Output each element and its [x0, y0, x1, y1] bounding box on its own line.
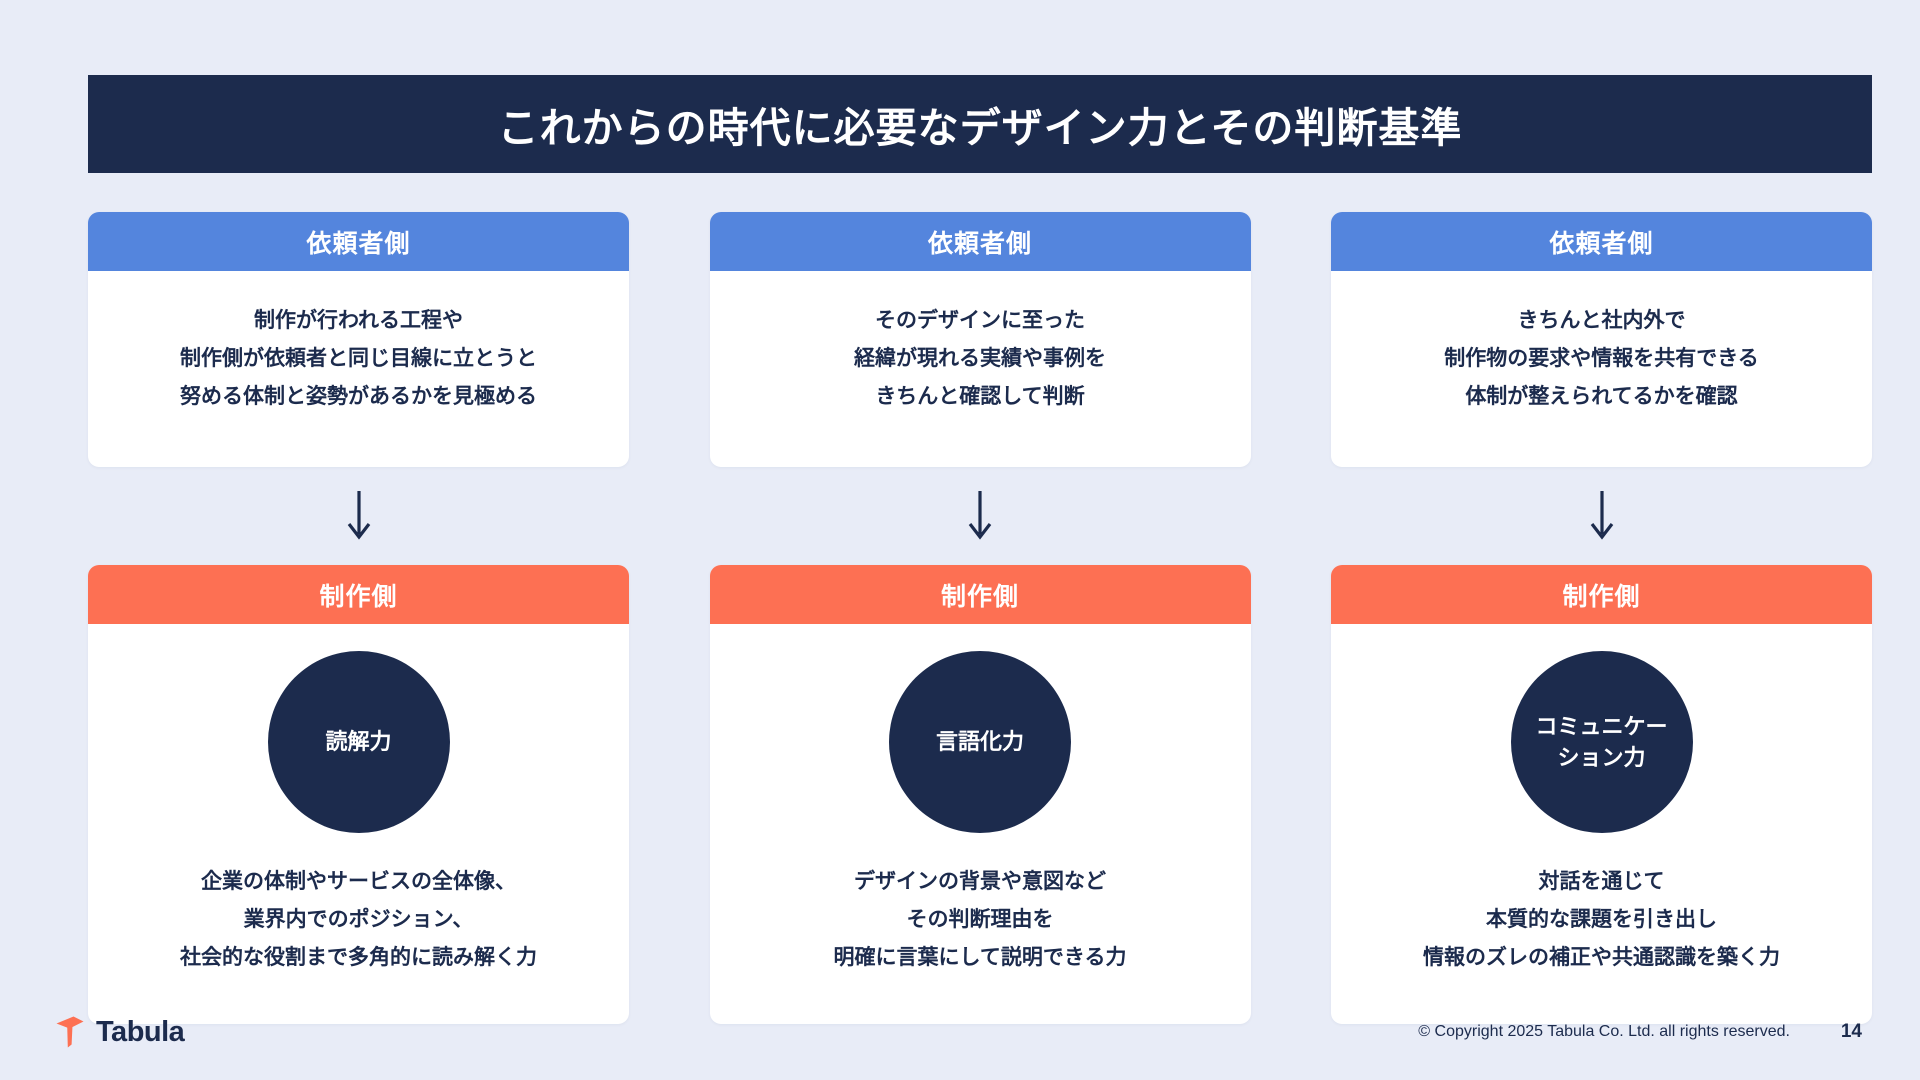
client-card-3: 依頼者側 きちんと社内外で 制作物の要求や情報を共有できる 体制が整えられてるか… — [1331, 212, 1872, 467]
creator-card-body-3: コミュニケー ション力 対話を通じて 本質的な課題を引き出し 情報のズレの補正や… — [1331, 624, 1872, 1024]
client-card-body-2: そのデザインに至った 経緯が現れる実績や事例を きちんと確認して判断 — [710, 271, 1251, 445]
client-card-body-3: きちんと社内外で 制作物の要求や情報を共有できる 体制が整えられてるかを確認 — [1331, 271, 1872, 445]
client-card-line: 制作物の要求や情報を共有できる — [1444, 340, 1759, 378]
column-2: 依頼者側 そのデザインに至った 経緯が現れる実績や事例を きちんと確認して判断 … — [710, 212, 1251, 1024]
creator-card-line: 企業の体制やサービスの全体像、 — [201, 863, 516, 901]
down-arrow-icon — [346, 490, 372, 542]
slide-title-bar: これからの時代に必要なデザイン力とその判断基準 — [88, 75, 1872, 173]
page-title: これからの時代に必要なデザイン力とその判断基準 — [498, 94, 1463, 154]
skill-circle-label-3-line2: ション力 — [1557, 745, 1645, 770]
creator-card-header-1: 制作側 — [88, 565, 629, 624]
creator-card-text-2: デザインの背景や意図など その判断理由を 明確に言葉にして説明できる力 — [834, 863, 1127, 978]
client-card-body-1: 制作が行われる工程や 制作側が依頼者と同じ目線に立とうと 努める体制と姿勢がある… — [88, 271, 629, 445]
down-arrow-1 — [88, 467, 629, 565]
client-card-line: きちんと社内外で — [1518, 302, 1686, 340]
creator-card-body-2: 言語化力 デザインの背景や意図など その判断理由を 明確に言葉にして説明できる力 — [710, 624, 1251, 1024]
skill-circle-label-1: 読解力 — [313, 726, 403, 757]
columns-container: 依頼者側 制作が行われる工程や 制作側が依頼者と同じ目線に立とうと 努める体制と… — [88, 212, 1872, 1024]
column-3: 依頼者側 きちんと社内外で 制作物の要求や情報を共有できる 体制が整えられてるか… — [1331, 212, 1872, 1024]
creator-card-line: 対話を通じて — [1539, 863, 1665, 901]
skill-circle-label-3-line1: コミュニケー — [1535, 714, 1667, 739]
creator-card-body-1: 読解力 企業の体制やサービスの全体像、 業界内でのポジション、 社会的な役割まで… — [88, 624, 629, 1024]
copyright-text: © Copyright 2025 Tabula Co. Ltd. all rig… — [1418, 1023, 1790, 1041]
client-card-line: そのデザインに至った — [875, 302, 1085, 340]
skill-circle-3: コミュニケー ション力 — [1511, 651, 1693, 833]
creator-card-line: 社会的な役割まで多角的に読み解く力 — [180, 939, 537, 977]
creator-card-line: 情報のズレの補正や共通認識を築く力 — [1423, 939, 1780, 977]
creator-card-line: 本質的な課題を引き出し — [1486, 901, 1717, 939]
creator-card-3: 制作側 コミュニケー ション力 対話を通じて 本質的な課題を引き出し 情報のズレ… — [1331, 565, 1872, 1024]
down-arrow-icon — [967, 490, 993, 542]
creator-card-line: デザインの背景や意図など — [854, 863, 1106, 901]
tabula-logo-icon — [55, 1015, 85, 1049]
creator-card-line: 業界内でのポジション、 — [244, 901, 474, 939]
client-card-line: 制作側が依頼者と同じ目線に立とうと — [180, 340, 537, 378]
skill-circle-label-3: コミュニケー ション力 — [1523, 711, 1679, 773]
creator-card-line: 明確に言葉にして説明できる力 — [834, 939, 1127, 977]
creator-card-2: 制作側 言語化力 デザインの背景や意図など その判断理由を 明確に言葉にして説明… — [710, 565, 1251, 1024]
client-card-header-2: 依頼者側 — [710, 212, 1251, 271]
client-card-line: 制作が行われる工程や — [254, 302, 463, 340]
down-arrow-3 — [1331, 467, 1872, 565]
tabula-logo-text: Tabula — [96, 1016, 184, 1049]
client-card-line: 経緯が現れる実績や事例を — [854, 340, 1106, 378]
creator-card-text-1: 企業の体制やサービスの全体像、 業界内でのポジション、 社会的な役割まで多角的に… — [180, 863, 537, 978]
client-card-header-1: 依頼者側 — [88, 212, 629, 271]
slide: これからの時代に必要なデザイン力とその判断基準 依頼者側 制作が行われる工程や … — [0, 0, 1920, 1080]
tabula-logo: Tabula — [55, 1015, 184, 1049]
skill-circle-label-2: 言語化力 — [924, 726, 1036, 757]
creator-card-line: その判断理由を — [906, 901, 1053, 939]
client-card-1: 依頼者側 制作が行われる工程や 制作側が依頼者と同じ目線に立とうと 努める体制と… — [88, 212, 629, 467]
down-arrow-icon — [1589, 490, 1615, 542]
creator-card-header-2: 制作側 — [710, 565, 1251, 624]
down-arrow-2 — [710, 467, 1251, 565]
client-card-2: 依頼者側 そのデザインに至った 経緯が現れる実績や事例を きちんと確認して判断 — [710, 212, 1251, 467]
skill-circle-2: 言語化力 — [889, 651, 1071, 833]
client-card-header-3: 依頼者側 — [1331, 212, 1872, 271]
client-card-line: 努める体制と姿勢があるかを見極める — [180, 378, 537, 416]
skill-circle-1: 読解力 — [268, 651, 450, 833]
client-card-line: きちんと確認して判断 — [875, 378, 1084, 416]
client-card-line: 体制が整えられてるかを確認 — [1465, 378, 1737, 416]
creator-card-header-3: 制作側 — [1331, 565, 1872, 624]
creator-card-1: 制作側 読解力 企業の体制やサービスの全体像、 業界内でのポジション、 社会的な… — [88, 565, 629, 1024]
page-number: 14 — [1841, 1021, 1862, 1043]
column-1: 依頼者側 制作が行われる工程や 制作側が依頼者と同じ目線に立とうと 努める体制と… — [88, 212, 629, 1024]
slide-footer: Tabula © Copyright 2025 Tabula Co. Ltd. … — [0, 984, 1920, 1080]
creator-card-text-3: 対話を通じて 本質的な課題を引き出し 情報のズレの補正や共通認識を築く力 — [1423, 863, 1780, 978]
